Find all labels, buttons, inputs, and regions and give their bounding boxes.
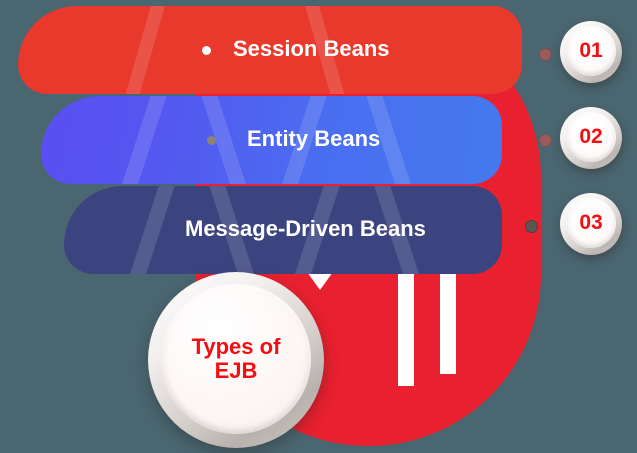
- connector-dot-02: [539, 134, 552, 147]
- number-badge-text-03: 03: [579, 211, 602, 235]
- number-badge-02[interactable]: 02: [560, 107, 628, 175]
- item-label-entity-beans: Entity Beans: [247, 126, 380, 152]
- connector-dot-01: [539, 48, 552, 61]
- watermark-bar-right-icon: [440, 262, 456, 374]
- number-badge-face: 02: [566, 112, 616, 162]
- item-label-session-beans: Session Beans: [233, 36, 390, 62]
- number-badge-face: 03: [566, 198, 616, 248]
- number-badge-face: 01: [566, 26, 616, 76]
- watermark-bar-left-icon: [398, 262, 414, 386]
- item-label-message-driven-beans: Message-Driven Beans: [185, 216, 426, 242]
- connector-dot-03: [525, 220, 538, 233]
- center-badge-face: Types of EJB: [161, 284, 311, 434]
- center-title-line-2: EJB: [192, 359, 281, 383]
- bullet-dot-entity-beans: [207, 136, 216, 145]
- number-badge-03[interactable]: 03: [560, 193, 628, 261]
- number-badge-text-02: 02: [579, 125, 602, 149]
- center-badge-text: Types of EJB: [192, 335, 281, 383]
- number-badge-01[interactable]: 01: [560, 21, 628, 89]
- number-badge-text-01: 01: [579, 39, 602, 63]
- center-badge[interactable]: Types of EJB: [148, 272, 330, 453]
- infographic-canvas: Session Beans Entity Beans Message-Drive…: [0, 0, 637, 453]
- center-title-line-1: Types of: [192, 335, 281, 359]
- bullet-dot-session-beans: [202, 46, 211, 55]
